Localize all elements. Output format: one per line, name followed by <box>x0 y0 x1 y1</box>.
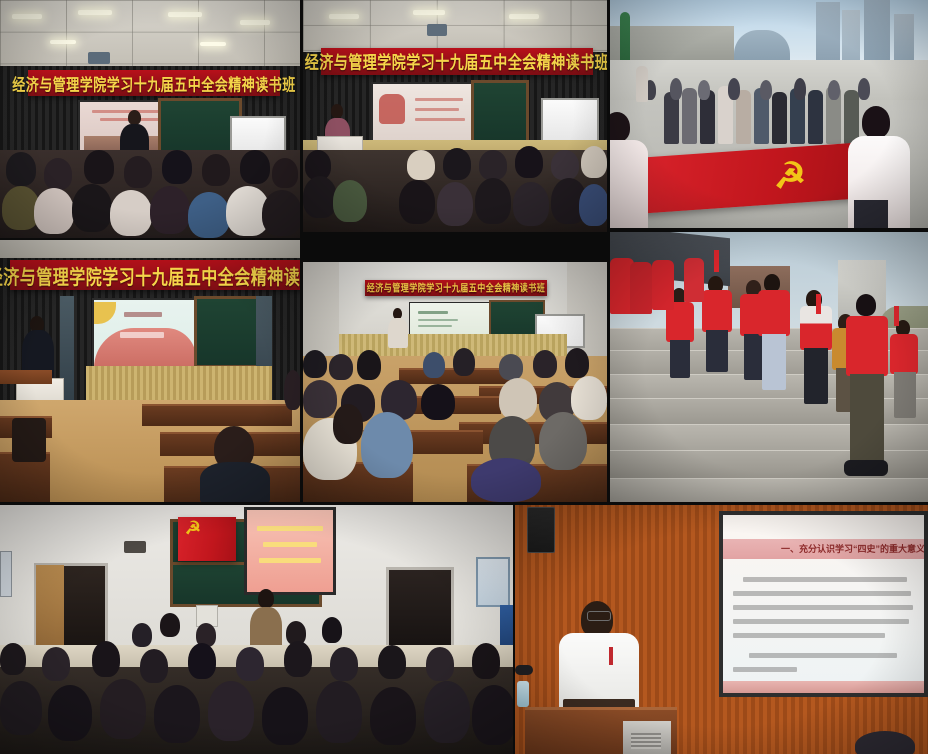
projector-icon <box>88 52 110 64</box>
photo-collage: 经济与管理学院学习十九届五中全会精神读书班 <box>0 0 928 754</box>
notice-board <box>500 605 513 645</box>
slide-title-text: 一、充分认识学习“四史”的重大意义 <box>781 542 924 555</box>
photo-top-center: 经济与管理学院学习十九届五中全会精神读书班 <box>303 0 607 232</box>
event-banner: 经济与管理学院学习十九届五中全会精神读书班 <box>365 280 547 296</box>
notice-board <box>476 557 510 607</box>
event-banner-text: 经济与管理学院学习十九届五中全会精神读书班 <box>367 281 546 295</box>
event-banner-text: 经济与管理学院学习十九届五中全会精神读书班 <box>0 260 300 290</box>
photo-mid-right <box>610 232 928 502</box>
water-bottle <box>517 681 529 707</box>
photo-top-left: 经济与管理学院学习十九届五中全会精神读书班 <box>0 0 300 238</box>
photo-mid-left: 经济与管理学院学习十九届五中全会精神读书班 <box>0 240 300 502</box>
event-banner: 经济与管理学院学习十九届五中全会精神读书班 <box>321 48 593 75</box>
event-banner: 经济与管理学院学习十九届五中全会精神读书班 <box>10 260 300 290</box>
event-banner-text: 经济与管理学院学习十九届五中全会精神读书班 <box>12 71 296 95</box>
photo-bottom-left: ☭ <box>0 505 513 754</box>
photo-top-right: ☭ <box>610 0 928 228</box>
wall-speaker-icon <box>527 507 555 553</box>
projector-icon <box>427 24 447 36</box>
wall-light-icon <box>124 541 146 553</box>
hammer-and-sickle-icon: ☭ <box>182 519 204 541</box>
photo-mid-center: 经济与管理学院学习十九届五中全会精神读书班 <box>303 262 607 502</box>
event-banner-text: 经济与管理学院学习十九届五中全会精神读书班 <box>305 49 607 74</box>
notice-board <box>0 551 12 597</box>
projection-screen <box>244 507 336 595</box>
hammer-and-sickle-icon: ☭ <box>766 158 814 200</box>
photo-bottom-right: 一、充分认识学习“四史”的重大意义 <box>515 505 928 754</box>
decorative-column <box>620 12 630 60</box>
projection-screen: 一、充分认识学习“四史”的重大意义 <box>719 511 928 697</box>
microphone-icon <box>515 665 533 675</box>
event-banner: 经济与管理学院学习十九届五中全会精神读书班 <box>28 70 280 96</box>
